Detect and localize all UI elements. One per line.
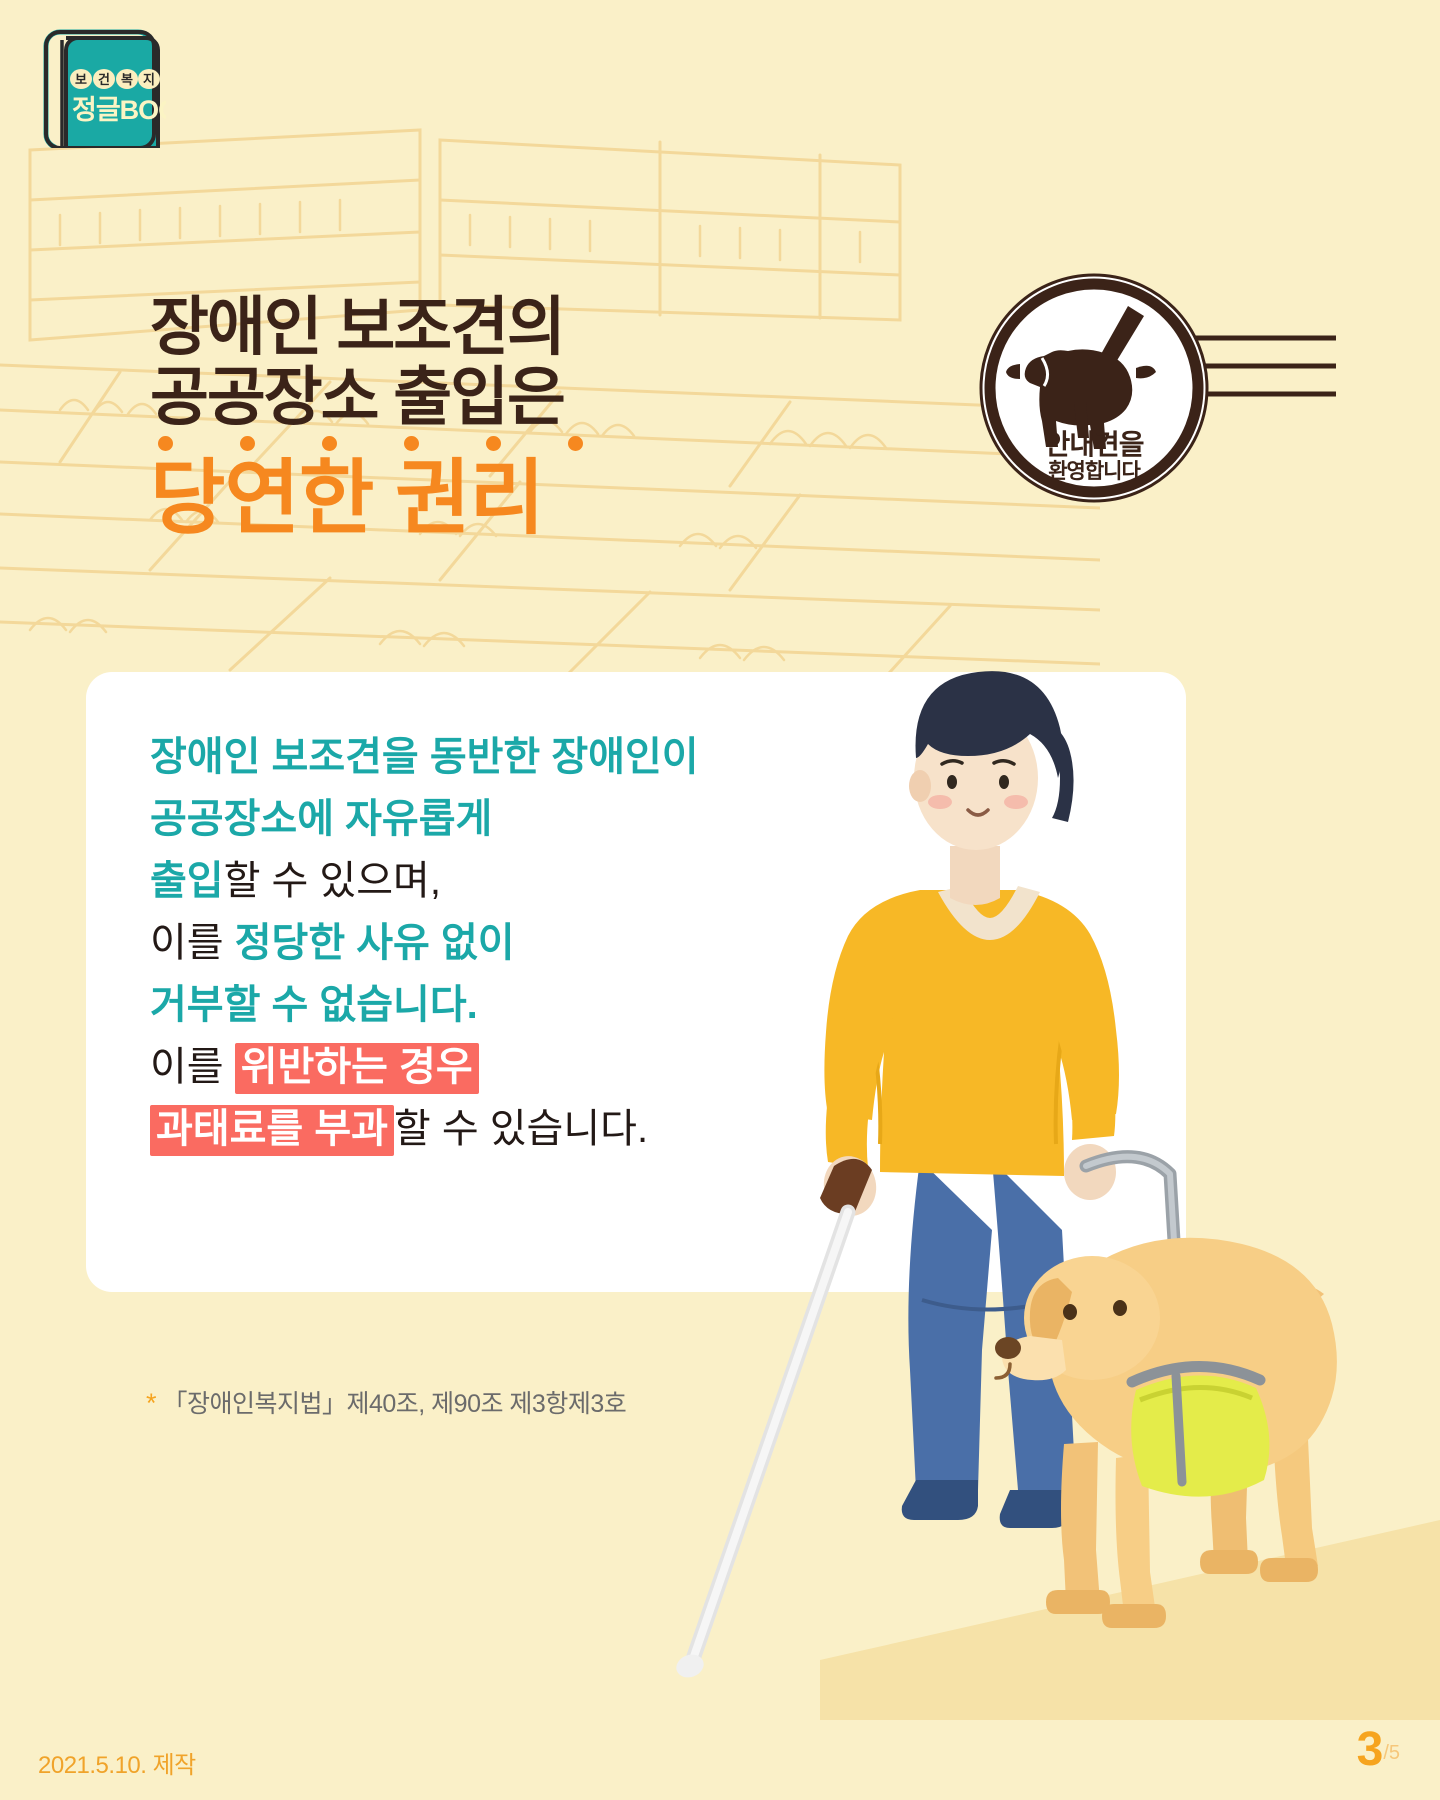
body-line-7-rest: 할 수 있습니다. — [394, 1107, 648, 1151]
body-line-5: 거부할 수 없습니다. — [150, 974, 930, 1036]
footnote-asterisk: * — [146, 1388, 156, 1418]
badge-label-line-1: 안내견을 — [1044, 429, 1143, 460]
badge-label-line-2: 환영합니다 — [1048, 460, 1141, 483]
svg-text:복: 복 — [121, 72, 133, 87]
body-line-4: 이를 정당한 사유 없이 — [150, 912, 930, 974]
svg-text:건: 건 — [98, 72, 110, 87]
body-line-4-prefix: 이를 — [150, 921, 235, 965]
headline-accent-dots — [158, 436, 583, 451]
headline: 장애인 보조견의 공공장소 출입은 당연한 권리 — [150, 292, 970, 542]
body-text-block: 장애인 보조견을 동반한 장애인이 공공장소에 자유롭게 출입할 수 있으며, … — [150, 726, 930, 1160]
body-line-6-highlight: 위반하는 경우 — [235, 1043, 479, 1094]
guide-dog-welcome-badge: 안내견을 환영합니다 — [978, 272, 1210, 504]
body-line-7-highlight: 과태료를 부과 — [150, 1105, 394, 1156]
page-current: 3 — [1357, 1723, 1384, 1776]
body-line-4-emphasis: 정당한 사유 없이 — [235, 921, 515, 965]
body-line-6: 이를 위반하는 경우 — [150, 1036, 930, 1098]
body-line-6-prefix: 이를 — [150, 1045, 235, 1089]
headline-line-1: 장애인 보조견의 — [150, 292, 970, 362]
body-line-2: 공공장소에 자유롭게 — [150, 788, 930, 850]
page-total: /5 — [1383, 1742, 1400, 1764]
svg-text:지: 지 — [143, 72, 155, 87]
footnote-text: 「장애인복지법」제40조, 제90조 제3항제3호 — [162, 1390, 626, 1418]
footnote: * 「장애인복지법」제40조, 제90조 제3항제3호 — [146, 1384, 626, 1420]
svg-text:정글BOOK: 정글BOOK — [72, 95, 166, 125]
poster-card: 보 건 복 지 정글BOOK 장애인 보조견의 공공장소 출입은 당연한 권리 — [0, 0, 1440, 1800]
body-line-3-rest: 할 수 있으며, — [224, 859, 441, 903]
body-line-3-emphasis: 출입 — [150, 859, 224, 903]
headline-line-2: 공공장소 출입은 — [150, 362, 970, 432]
body-line-1: 장애인 보조견을 동반한 장애인이 — [150, 726, 930, 788]
headline-accent: 당연한 권리 — [150, 456, 970, 542]
body-line-2-text: 공공장소에 자유롭게 — [150, 797, 492, 841]
page-indicator: 3/5 — [1357, 1722, 1400, 1777]
body-line-1-text: 장애인 보조견을 동반한 장애인이 — [150, 735, 699, 779]
production-date: 2021.5.10. 제작 — [38, 1745, 196, 1780]
body-line-7: 과태료를 부과할 수 있습니다. — [150, 1098, 930, 1160]
body-line-3: 출입할 수 있으며, — [150, 850, 930, 912]
body-line-5-emphasis: 거부할 수 없습니다. — [150, 983, 478, 1027]
svg-text:보: 보 — [75, 72, 87, 87]
logo: 보 건 복 지 정글BOOK — [36, 26, 166, 148]
